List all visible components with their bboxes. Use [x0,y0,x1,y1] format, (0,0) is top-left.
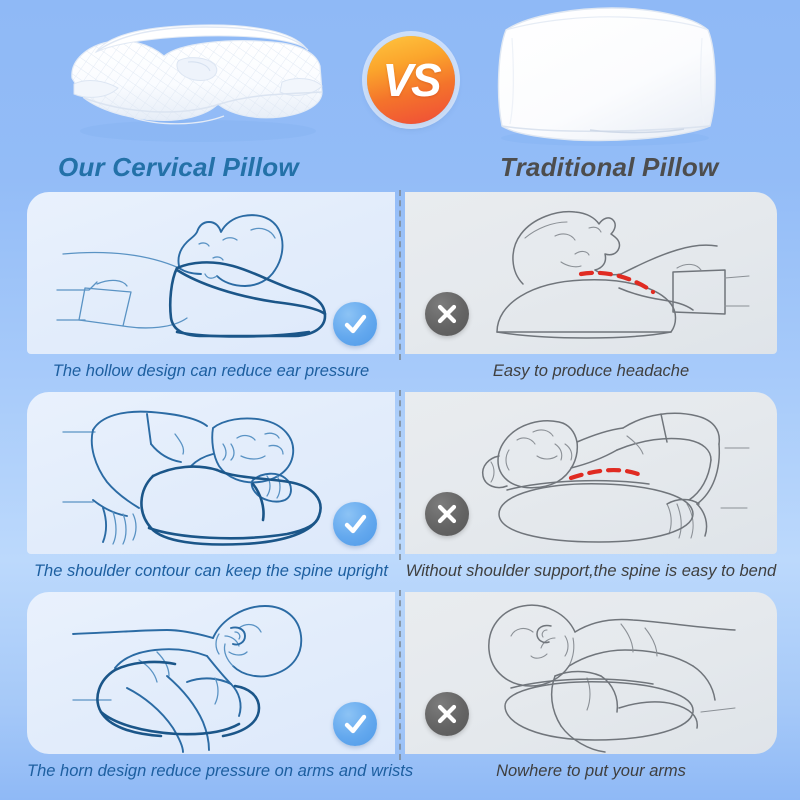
traditional-pillow-image [470,0,740,148]
comparison-row-ear-pressure: The hollow design can reduce ear pressur… [0,190,800,390]
cervical-pillow-image [30,0,360,148]
good-caption-row1: The hollow design can reduce ear pressur… [27,356,395,386]
cross-badge-row2 [425,492,469,536]
bad-panel-row2 [405,392,777,554]
bad-caption-row3: Nowhere to put your arms [405,756,777,786]
versus-label: VS [382,57,439,103]
checkmark-icon [340,309,370,339]
right-product-title: Traditional Pillow [500,152,718,183]
cross-badge-row3 [425,692,469,736]
good-caption-row3: The horn design reduce pressure on arms … [27,756,395,786]
good-caption-row2: The shoulder contour can keep the spine … [27,556,395,586]
checkmark-icon [340,509,370,539]
cross-badge-row1 [425,292,469,336]
comparison-infographic: VS Our Cervical Pi [0,0,800,800]
check-badge-row1 [333,302,377,346]
bad-panel-row3 [405,592,777,754]
cross-icon [432,699,462,729]
row-divider-3 [399,590,401,760]
cross-icon [432,299,462,329]
hero-section: VS Our Cervical Pi [0,0,800,190]
check-badge-row3 [333,702,377,746]
comparison-row-arm-support: The horn design reduce pressure on arms … [0,590,800,790]
left-product-title: Our Cervical Pillow [58,152,299,183]
checkmark-icon [340,709,370,739]
bad-caption-row2: Without shoulder support,the spine is ea… [405,556,777,586]
comparison-row-spine-upright: The shoulder contour can keep the spine … [0,390,800,590]
traditional-pillow-icon [470,0,740,148]
versus-badge: VS [367,36,455,124]
good-panel-row1 [27,192,395,354]
cross-icon [432,499,462,529]
good-panel-row2 [27,392,395,554]
check-badge-row2 [333,502,377,546]
cervical-pillow-icon [30,0,360,148]
bad-caption-row1: Easy to produce headache [405,356,777,386]
bad-panel-row1 [405,192,777,354]
good-panel-row3 [27,592,395,754]
row-divider-2 [399,390,401,560]
row-divider-1 [399,190,401,360]
